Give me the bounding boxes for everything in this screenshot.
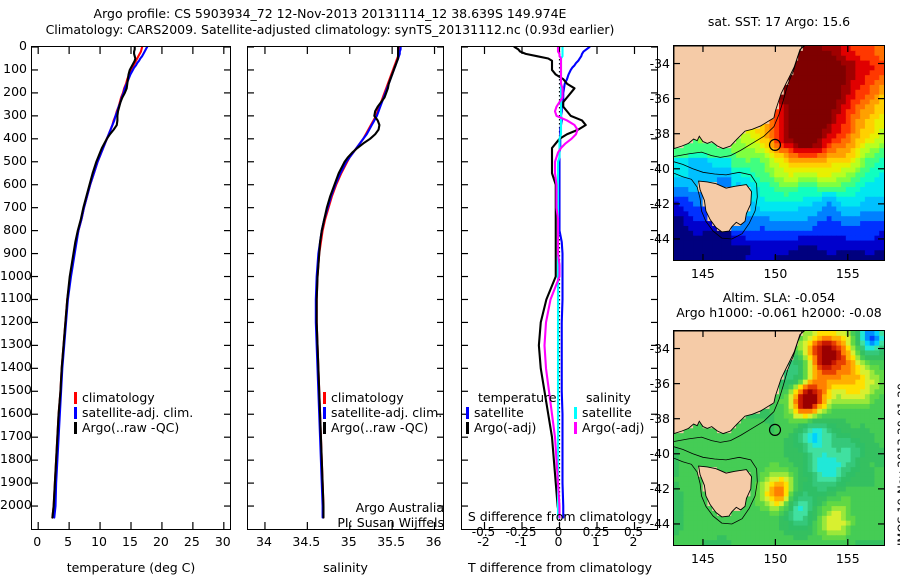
sla-map-canvas xyxy=(674,331,884,545)
panel-salinity xyxy=(247,46,444,530)
s-diff-tick--0.5: -0.5 xyxy=(463,525,505,539)
depth-tick-2000: 2000 xyxy=(0,497,27,512)
salinity-tick-35: 35 xyxy=(331,534,367,549)
sst-lat-tick--40: -40 xyxy=(644,161,670,176)
legend-item: satellite-adj. clim. xyxy=(74,405,193,420)
title-line-2: Climatology: CARS2009. Satellite-adjuste… xyxy=(0,22,660,38)
depth-tick-1000: 1000 xyxy=(0,268,27,283)
depth-tick-500: 500 xyxy=(0,153,27,168)
salinity-legend: climatology satellite-adj. clim. Argo(..… xyxy=(323,390,442,435)
sst-lon-tick-155: 155 xyxy=(830,266,866,281)
legend-item: Argo(..raw -QC) xyxy=(74,420,193,435)
depth-tick-1700: 1700 xyxy=(0,428,27,443)
legend-item: satellite xyxy=(466,405,552,420)
sla-lon-tick-155: 155 xyxy=(830,551,866,566)
sst-map-canvas xyxy=(674,46,884,260)
legend-swatch-sal-satellite xyxy=(574,407,577,419)
legend-swatch-climatology xyxy=(74,392,77,404)
sst-lat-tick--38: -38 xyxy=(644,126,670,141)
depth-tick-200: 200 xyxy=(0,84,27,99)
depth-tick-1800: 1800 xyxy=(0,451,27,466)
sst-lat-tick--36: -36 xyxy=(644,91,670,106)
sst-lon-tick-145: 145 xyxy=(685,266,721,281)
map-sst xyxy=(673,45,885,261)
depth-tick-700: 700 xyxy=(0,199,27,214)
depth-tick-1300: 1300 xyxy=(0,336,27,351)
depth-tick-1400: 1400 xyxy=(0,359,27,374)
title-line-1: Argo profile: CS 5903934_72 12-Nov-2013 … xyxy=(0,6,660,22)
legend-item: Argo(-adj) xyxy=(466,420,552,435)
depth-tick-1500: 1500 xyxy=(0,382,27,397)
legend-item: climatology xyxy=(323,390,442,405)
depth-tick-300: 300 xyxy=(0,107,27,122)
sla-lat-tick--44: -44 xyxy=(644,516,670,531)
temperature-tick-5: 5 xyxy=(54,534,82,549)
depth-tick-1600: 1600 xyxy=(0,405,27,420)
panel-difference xyxy=(461,46,658,530)
legend-label: climatology xyxy=(82,391,155,404)
sst-map-title: sat. SST: 17 Argo: 15.6 xyxy=(668,14,890,29)
temperature-tick-15: 15 xyxy=(116,534,144,549)
sla-lat-tick--42: -42 xyxy=(644,481,670,496)
s-diff-tick-0.25: 0.25 xyxy=(575,525,617,539)
legend-header-temperature: temperature xyxy=(466,390,552,405)
figure-title: Argo profile: CS 5903934_72 12-Nov-2013 … xyxy=(0,6,660,38)
legend-swatch-argo-raw xyxy=(74,422,77,434)
temperature-tick-0: 0 xyxy=(23,534,51,549)
sst-lat-tick--34: -34 xyxy=(644,56,670,71)
legend-swatch-sal-argo xyxy=(574,422,577,434)
depth-tick-600: 600 xyxy=(0,176,27,191)
legend-label: satellite-adj. clim. xyxy=(82,406,193,419)
sla-title-line-1: Altim. SLA: -0.054 xyxy=(668,290,890,305)
sst-lat-tick--42: -42 xyxy=(644,196,670,211)
temperature-tick-25: 25 xyxy=(178,534,206,549)
sla-title-line-2: Argo h1000: -0.061 h2000: -0.08 xyxy=(668,305,890,320)
legend-swatch-satellite-adj xyxy=(323,407,326,419)
sst-lon-tick-150: 150 xyxy=(757,266,793,281)
sla-lat-tick--38: -38 xyxy=(644,411,670,426)
legend-swatch-climatology xyxy=(323,392,326,404)
depth-tick-900: 900 xyxy=(0,245,27,260)
depth-tick-100: 100 xyxy=(0,61,27,76)
credit-line-2: PI: Susan Wijffels xyxy=(244,515,444,530)
difference-legend: temperature satellite Argo(-adj) salinit… xyxy=(466,390,658,435)
salinity-tick-36: 36 xyxy=(416,534,452,549)
sla-lon-tick-145: 145 xyxy=(685,551,721,566)
legend-swatch-argo-raw xyxy=(323,422,326,434)
sla-lat-tick--40: -40 xyxy=(644,446,670,461)
depth-tick-1200: 1200 xyxy=(0,313,27,328)
difference-x-label-top: S difference from climatology xyxy=(455,509,665,524)
temperature-tick-10: 10 xyxy=(85,534,113,549)
difference-x-label-bottom: T difference from climatology xyxy=(455,560,665,575)
legend-item: Argo(..raw -QC) xyxy=(323,420,442,435)
legend-label: Argo(-adj) xyxy=(582,421,644,434)
panel-temperature xyxy=(31,46,231,530)
salinity-tick-34: 34 xyxy=(246,534,282,549)
salinity-x-label: salinity xyxy=(247,560,444,575)
sst-lat-tick--44: -44 xyxy=(644,231,670,246)
legend-label: Argo(..raw -QC) xyxy=(82,421,179,434)
legend-label: satellite-adj. clim. xyxy=(331,406,442,419)
map-sla xyxy=(673,330,885,546)
sla-lat-tick--34: -34 xyxy=(644,341,670,356)
temperature-tick-30: 30 xyxy=(209,534,237,549)
legend-swatch-satellite-adj xyxy=(74,407,77,419)
temperature-x-label: temperature (deg C) xyxy=(31,560,231,575)
imos-timestamp: IMOS 19-Nov-2013 20:01:20 xyxy=(895,383,900,546)
credit-line-1: Argo Australia xyxy=(244,500,444,515)
legend-label: satellite xyxy=(474,406,524,419)
sla-lat-tick--36: -36 xyxy=(644,376,670,391)
legend-item: climatology xyxy=(74,390,193,405)
sla-lon-tick-150: 150 xyxy=(757,551,793,566)
legend-label: satellite xyxy=(582,406,632,419)
legend-label: Argo(..raw -QC) xyxy=(331,421,428,434)
legend-item: satellite-adj. clim. xyxy=(323,405,442,420)
salinity-plot-area xyxy=(248,47,443,529)
figure-root: Argo profile: CS 5903934_72 12-Nov-2013 … xyxy=(0,0,900,580)
legend-swatch-temp-satellite xyxy=(466,407,469,419)
credit-block: Argo Australia PI: Susan Wijffels xyxy=(244,500,444,530)
temperature-legend: climatology satellite-adj. clim. Argo(..… xyxy=(74,390,193,435)
s-diff-tick-0: 0 xyxy=(538,525,580,539)
legend-label: Argo(-adj) xyxy=(474,421,536,434)
sla-map-title: Altim. SLA: -0.054 Argo h1000: -0.061 h2… xyxy=(668,290,890,320)
temperature-tick-20: 20 xyxy=(147,534,175,549)
salinity-tick-35.5: 35.5 xyxy=(373,534,409,549)
depth-tick-0: 0 xyxy=(0,38,27,53)
temperature-plot-area xyxy=(32,47,230,529)
legend-swatch-temp-argo xyxy=(466,422,469,434)
legend-label: climatology xyxy=(331,391,404,404)
depth-tick-1900: 1900 xyxy=(0,474,27,489)
legend-header-salinity: salinity xyxy=(574,390,658,405)
depth-tick-800: 800 xyxy=(0,222,27,237)
difference-plot-area xyxy=(462,47,657,529)
salinity-tick-34.5: 34.5 xyxy=(288,534,324,549)
s-diff-tick--0.25: -0.25 xyxy=(500,525,542,539)
depth-tick-400: 400 xyxy=(0,130,27,145)
depth-tick-1100: 1100 xyxy=(0,290,27,305)
